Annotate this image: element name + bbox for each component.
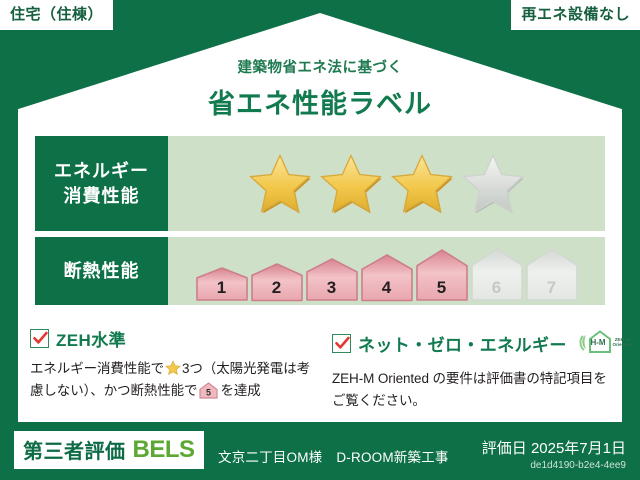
title-subtitle: 建築物省エネ法に基づく — [0, 56, 640, 77]
insulation-label-line1: 断熱性能 — [64, 259, 140, 283]
zeh-body-part1: エネルギー消費性能で — [30, 361, 164, 376]
energy-consumption-row-value — [168, 136, 605, 231]
insulation-level-badge: 5 — [415, 248, 469, 302]
project-owner: 文京二丁目OM様 — [218, 450, 322, 465]
svg-text:H-M: H-M — [590, 338, 605, 347]
zeh-standard-heading: ZEH水準 — [30, 326, 320, 351]
evaluation-date-line: 評価日 2025年7月1日 — [482, 437, 626, 458]
project-name: D-ROOM新築工事 — [336, 450, 448, 465]
renewable-equipment-tag: 再エネ設備なし — [511, 0, 640, 30]
insulation-level-badge: 7 — [525, 247, 579, 302]
evaluation-id: de1d4190-b2e4-4ee9 — [482, 460, 626, 471]
inline-star-icon — [165, 360, 181, 376]
energy-consumption-row: エネルギー 消費性能 — [35, 136, 605, 231]
zeh-m-logo-sub2: Oriented — [612, 342, 631, 347]
insulation-level-number: 2 — [250, 279, 304, 296]
star-filled-icon — [318, 152, 384, 216]
energy-label-line2: 消費性能 — [64, 184, 140, 208]
page-title: 省エネ性能ラベル — [0, 82, 640, 121]
criteria-notes: ZEH水準 エネルギー消費性能で3つ（太陽光発電は考慮しない）、かつ断熱性能で5… — [30, 326, 610, 412]
net-zero-checkbox — [332, 334, 351, 353]
svg-text:5: 5 — [207, 387, 212, 397]
bels-logo: 第三者評価 BELS — [14, 431, 204, 469]
star-rating — [247, 152, 526, 216]
performance-rows: エネルギー 消費性能 断熱性能 1234567 — [35, 136, 605, 311]
energy-performance-label: 住宅（住棟） 再エネ設備なし 建築物省エネ法に基づく 省エネ性能ラベル エネルギ… — [0, 0, 640, 480]
label-footer: 第三者評価 BELS 文京二丁目OM様D-ROOM新築工事 評価日 2025年7… — [0, 422, 640, 480]
zeh-m-oriented-logo-icon: H-M ZEH-M Oriented — [578, 326, 634, 361]
energy-consumption-row-label: エネルギー 消費性能 — [35, 136, 168, 231]
evaluation-date-label: 評価日 — [482, 440, 527, 457]
evaluation-info: 評価日 2025年7月1日 de1d4190-b2e4-4ee9 — [482, 437, 626, 471]
label-title-block: 建築物省エネ法に基づく 省エネ性能ラベル — [0, 56, 640, 121]
bels-logo-en: BELS — [133, 436, 195, 464]
insulation-level-number: 4 — [360, 279, 414, 296]
inline-level-badge-icon: 5 — [199, 382, 218, 399]
energy-label-line1: エネルギー — [54, 159, 149, 183]
insulation-level-number: 3 — [305, 279, 359, 296]
insulation-level-badge: 4 — [360, 253, 414, 303]
insulation-level-scale: 1234567 — [195, 240, 579, 302]
insulation-level-badge: 6 — [470, 247, 524, 302]
evaluation-date-value: 2025年7月1日 — [531, 440, 626, 457]
insulation-level-badge: 3 — [305, 257, 359, 302]
insulation-level-number: 5 — [415, 279, 469, 296]
insulation-row-value: 1234567 — [168, 237, 605, 305]
insulation-performance-row: 断熱性能 1234567 — [35, 237, 605, 305]
insulation-level-number: 6 — [470, 279, 524, 296]
insulation-level-badge: 1 — [195, 266, 249, 302]
zeh-standard-title: ZEH水準 — [56, 326, 126, 351]
star-empty-icon — [460, 152, 526, 216]
net-zero-energy-note: ネット・ゼロ・エネルギー H-M ZEH-M Oriented ZEH-M Or… — [320, 326, 610, 412]
building-type-tag: 住宅（住棟） — [0, 0, 113, 30]
net-zero-body: ZEH-M Oriented の要件は評価書の特記項目をご覧ください。 — [332, 368, 610, 412]
project-info: 文京二丁目OM様D-ROOM新築工事 — [218, 446, 449, 466]
insulation-level-number: 1 — [195, 279, 249, 296]
star-filled-icon — [389, 152, 455, 216]
net-zero-heading: ネット・ゼロ・エネルギー H-M ZEH-M Oriented — [332, 326, 610, 361]
zeh-standard-body: エネルギー消費性能で3つ（太陽光発電は考慮しない）、かつ断熱性能で5を達成 — [30, 358, 320, 402]
zeh-body-part3: を達成 — [220, 383, 260, 398]
zeh-standard-checkbox — [30, 329, 49, 348]
star-filled-icon — [247, 152, 313, 216]
net-zero-title: ネット・ゼロ・エネルギー — [358, 331, 567, 356]
zeh-standard-note: ZEH水準 エネルギー消費性能で3つ（太陽光発電は考慮しない）、かつ断熱性能で5… — [30, 326, 320, 412]
insulation-row-label: 断熱性能 — [35, 237, 168, 305]
bels-logo-jp: 第三者評価 — [23, 435, 126, 464]
insulation-level-badge: 2 — [250, 262, 304, 303]
insulation-level-number: 7 — [525, 279, 579, 296]
